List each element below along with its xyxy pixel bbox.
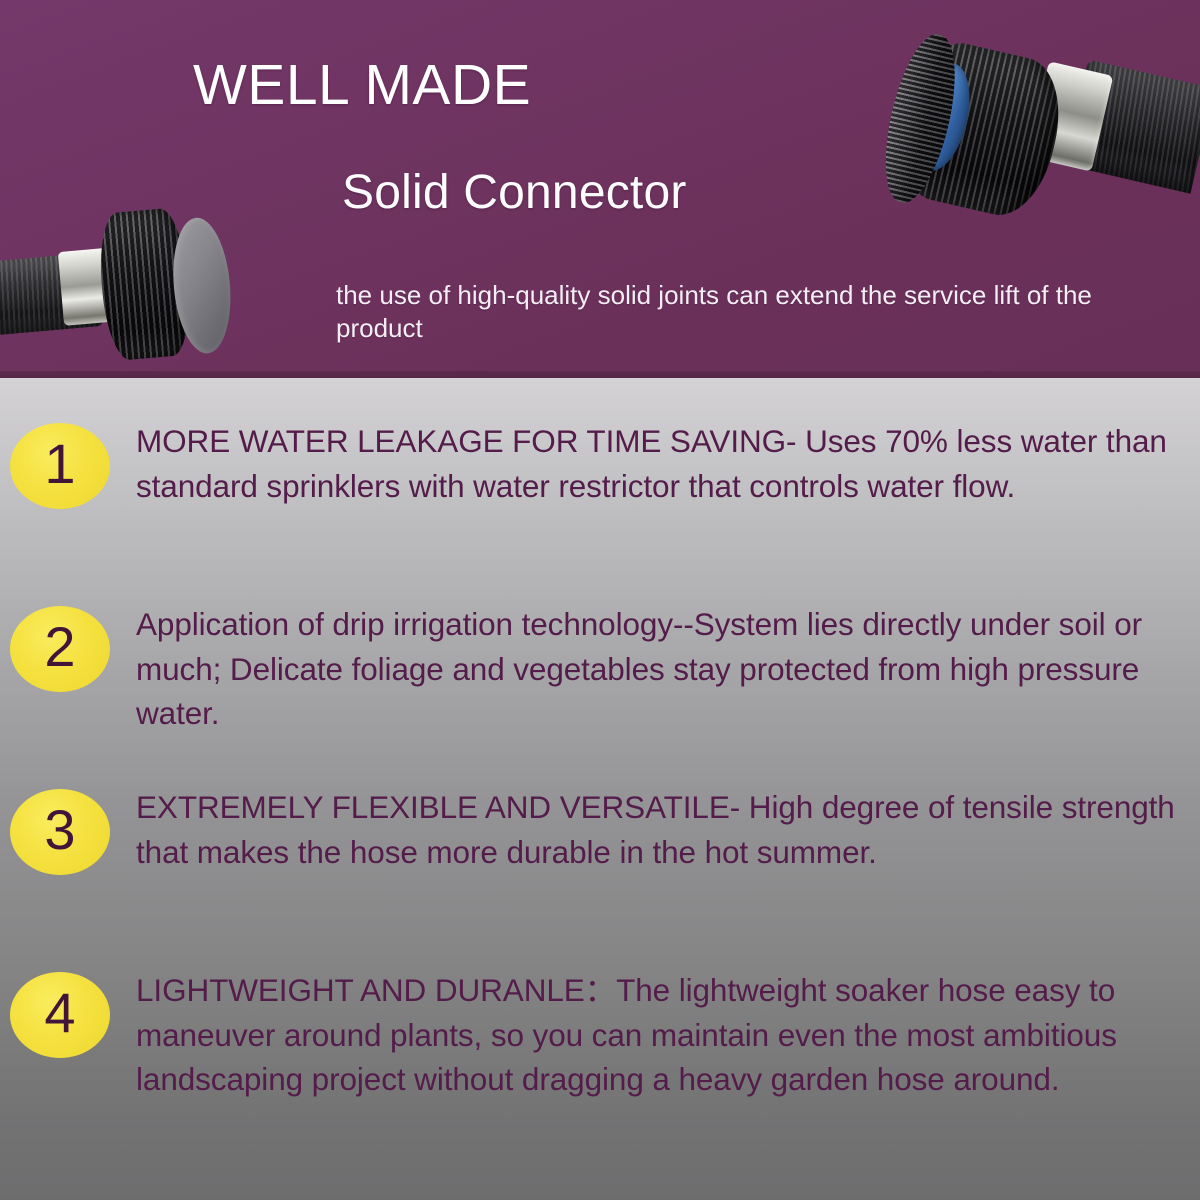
feature-number-4: 4 (44, 985, 75, 1041)
feature-badge-1: 1 (10, 423, 110, 509)
header-banner: WELL MADE Solid Connector the use of hig… (0, 0, 1200, 378)
header-title: WELL MADE (193, 56, 531, 115)
hose-connector-left-photo (0, 200, 268, 378)
hose-connector-top-right-photo (880, 18, 1200, 250)
feature-number-2: 2 (44, 619, 75, 675)
feature-text-1: MORE WATER LEAKAGE FOR TIME SAVING- Uses… (136, 419, 1196, 508)
feature-text-2: Application of drip irrigation technolog… (136, 602, 1196, 736)
feature-text-3: EXTREMELY FLEXIBLE AND VERSATILE- High d… (136, 785, 1196, 874)
features-section: 1 MORE WATER LEAKAGE FOR TIME SAVING- Us… (0, 378, 1200, 1200)
feature-text-4: LIGHTWEIGHT AND DURANLE：The lightweight … (136, 968, 1196, 1102)
product-infographic: WELL MADE Solid Connector the use of hig… (0, 0, 1200, 1200)
feature-badge-4: 4 (10, 972, 110, 1058)
feature-number-1: 1 (44, 436, 75, 492)
feature-badge-3: 3 (10, 789, 110, 875)
feature-badge-2: 2 (10, 606, 110, 692)
header-subtitle: Solid Connector (342, 168, 687, 218)
header-description: the use of high-quality solid joints can… (336, 279, 1116, 346)
feature-number-3: 3 (44, 802, 75, 858)
header-bottom-divider (0, 371, 1200, 378)
